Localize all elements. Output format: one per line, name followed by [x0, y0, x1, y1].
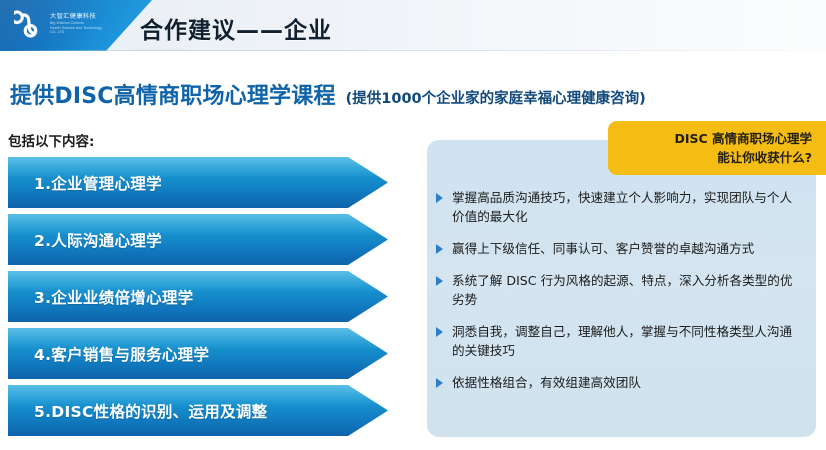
page-title: 合作建议——企业 — [140, 11, 332, 45]
benefit-text: 洞悉自我，调整自己，理解他人，掌握与不同性格类型人沟通的关键技巧 — [452, 322, 804, 360]
course-arrow-list: 1.企业管理心理学 2.人际沟通心理学 3.企业业绩倍增心理学 4.客户销售与服… — [8, 157, 388, 442]
benefit-text: 依据性格组合，有效组建高效团队 — [452, 373, 641, 392]
benefit-list-item: 掌握高品质沟通技巧，快速建立个人影响力，实现团队与个人价值的最大化 — [431, 188, 811, 226]
triangle-bullet-icon — [436, 378, 443, 388]
course-arrow-item[interactable]: 1.企业管理心理学 — [8, 157, 388, 208]
main-title: 提供DISC高情商职场心理学课程 — [10, 78, 336, 110]
slide-root: 大智汇健康科技 Big Wisdom Collects Health Scien… — [0, 0, 826, 450]
triangle-bullet-icon — [436, 276, 443, 286]
logo-name-cn: 大智汇健康科技 — [50, 13, 102, 21]
main-title-row: 提供DISC高情商职场心理学课程 (提供1000个企业家的家庭幸福心理健康咨询) — [10, 78, 646, 110]
course-arrow-item[interactable]: 3.企业业绩倍增心理学 — [8, 271, 388, 322]
main-subtitle: (提供1000个企业家的家庭幸福心理健康咨询) — [346, 87, 646, 108]
triangle-bullet-icon — [436, 244, 443, 254]
triangle-bullet-icon — [436, 327, 443, 337]
logo-text-block: 大智汇健康科技 Big Wisdom Collects Health Scien… — [50, 13, 102, 34]
benefit-text: 系统了解 DISC 行为风格的起源、特点，深入分析各类型的优劣势 — [452, 271, 804, 309]
benefit-text: 掌握高品质沟通技巧，快速建立个人影响力，实现团队与个人价值的最大化 — [452, 188, 804, 226]
course-item-label: 4.客户销售与服务心理学 — [8, 343, 209, 365]
includes-label: 包括以下内容: — [8, 130, 94, 150]
benefit-list-item: 依据性格组合，有效组建高效团队 — [431, 373, 811, 392]
course-arrow-item[interactable]: 4.客户销售与服务心理学 — [8, 328, 388, 379]
logo-name-en-3: CO.,LTD — [50, 30, 102, 34]
benefit-list-item: 洞悉自我，调整自己，理解他人，掌握与不同性格类型人沟通的关键技巧 — [431, 322, 811, 360]
benefit-list-item: 系统了解 DISC 行为风格的起源、特点，深入分析各类型的优劣势 — [431, 271, 811, 309]
logo-mark-icon — [14, 9, 44, 39]
triangle-bullet-icon — [436, 193, 443, 203]
course-item-label: 3.企业业绩倍增心理学 — [8, 286, 193, 308]
benefits-banner-line-1: DISC 高情商职场心理学 — [674, 129, 812, 148]
benefits-panel-banner: DISC 高情商职场心理学 能让你收获什么? — [608, 121, 826, 175]
course-arrow-item[interactable]: 2.人际沟通心理学 — [8, 214, 388, 265]
header-divider — [0, 50, 826, 51]
company-logo: 大智汇健康科技 Big Wisdom Collects Health Scien… — [14, 9, 102, 39]
slide-header: 大智汇健康科技 Big Wisdom Collects Health Scien… — [0, 0, 826, 51]
course-arrow-item[interactable]: 5.DISC性格的识别、运用及调整 — [8, 385, 388, 436]
benefits-list: 掌握高品质沟通技巧，快速建立个人影响力，实现团队与个人价值的最大化 赢得上下级信… — [431, 188, 811, 405]
benefit-list-item: 赢得上下级信任、同事认可、客户赞誉的卓越沟通方式 — [431, 239, 811, 258]
benefits-banner-line-2: 能让你收获什么? — [717, 148, 812, 167]
benefit-text: 赢得上下级信任、同事认可、客户赞誉的卓越沟通方式 — [452, 239, 754, 258]
course-item-label: 2.人际沟通心理学 — [8, 229, 162, 251]
course-item-label: 5.DISC性格的识别、运用及调整 — [8, 400, 267, 422]
course-item-label: 1.企业管理心理学 — [8, 172, 162, 194]
